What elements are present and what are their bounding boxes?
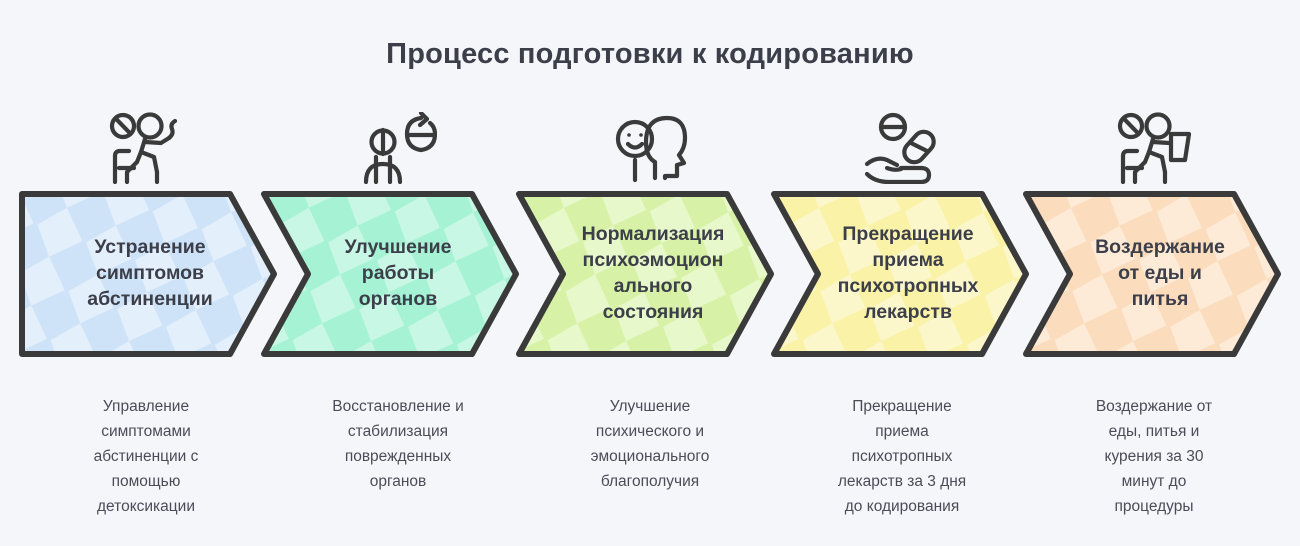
chevron-row: Устранение симптомов абстиненции xyxy=(18,190,1284,358)
chevron-label-2: Улучшение работы органов xyxy=(291,235,491,313)
step-3-icon-cell xyxy=(524,108,776,184)
caption-row: Управление симптомами абстиненции с помо… xyxy=(20,394,1280,520)
step-4-icon-cell xyxy=(776,108,1028,184)
chevron-step-1[interactable]: Устранение симптомов абстиненции xyxy=(18,190,280,358)
no-smoking-person-icon xyxy=(107,112,185,184)
caption-step-1: Управление симптомами абстиненции с помо… xyxy=(20,394,272,520)
page-title: Процесс подготовки к кодированию xyxy=(0,38,1300,71)
caption-step-3: Улучшение психического и эмоционального … xyxy=(524,394,776,520)
caption-step-2: Восстановление и стабилизация поврежденн… xyxy=(272,394,524,520)
caption-step-5: Воздержание от еды, питья и курения за 3… xyxy=(1028,394,1280,520)
chevron-step-4[interactable]: Прекращение приема психотропных лекарств xyxy=(770,190,1032,358)
chevron-step-3[interactable]: Нормализация психоэмоцион ального состоя… xyxy=(515,190,777,358)
chevron-label-1: Устранение симптомов абстиненции xyxy=(49,235,249,313)
step-5-icon-cell xyxy=(1028,108,1280,184)
smiley-head-profile-icon xyxy=(611,112,689,184)
chevron-step-5[interactable]: Воздержание от еды и питья xyxy=(1022,190,1284,358)
chevron-label-4: Прекращение приема психотропных лекарств xyxy=(801,222,1001,326)
person-recovery-arrow-icon xyxy=(359,112,437,184)
no-food-drink-person-icon xyxy=(1115,112,1193,184)
chevron-step-2[interactable]: Улучшение работы органов xyxy=(260,190,522,358)
caption-step-4: Прекращение приема психотропных лекарств… xyxy=(776,394,1028,520)
step-2-icon-cell xyxy=(272,108,524,184)
hand-with-pills-icon xyxy=(863,112,941,184)
icon-row xyxy=(20,108,1280,184)
chevron-label-3: Нормализация психоэмоцион ального состоя… xyxy=(546,222,746,326)
chevron-label-5: Воздержание от еды и питья xyxy=(1053,235,1253,313)
infographic-page: Процесс подготовки к кодированию xyxy=(0,0,1300,546)
step-1-icon-cell xyxy=(20,108,272,184)
